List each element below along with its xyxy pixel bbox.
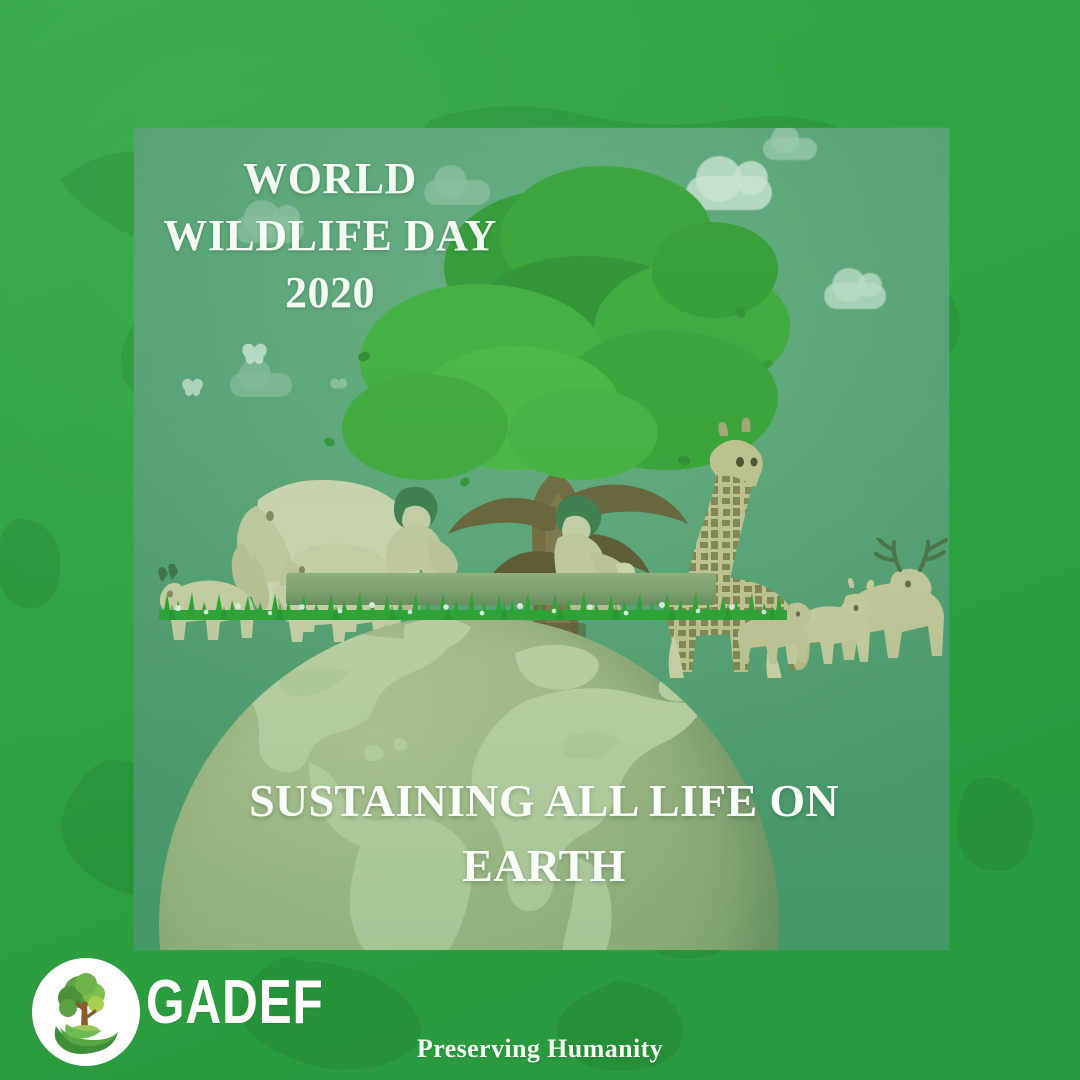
tagline-line-2: EARTH <box>174 833 914 898</box>
headline-line-1: WORLD <box>160 150 500 207</box>
cloud-icon <box>824 283 886 309</box>
tree-canopy-layer <box>652 222 778 318</box>
butterfly-icon <box>182 378 204 397</box>
headline: WORLD WILDLIFE DAY 2020 <box>160 150 500 322</box>
headline-line-2: WILDLIFE DAY <box>160 207 500 264</box>
tagline: SUSTAINING ALL LIFE ON EARTH <box>174 768 914 899</box>
tagline-line-1: SUSTAINING ALL LIFE ON <box>174 768 914 833</box>
artwork-panel: WORLD WILDLIFE DAY 2020 SUSTAINING ALL L… <box>134 128 949 950</box>
grass-strip <box>134 586 949 626</box>
footer-bar: GADEF Preserving Humanity <box>0 950 1080 1080</box>
headline-line-3: 2020 <box>160 264 500 321</box>
footer-slogan: Preserving Humanity <box>0 1034 1080 1064</box>
poster-canvas: WORLD WILDLIFE DAY 2020 SUSTAINING ALL L… <box>0 0 1080 1080</box>
brand-wordmark: GADEF <box>146 972 324 1034</box>
